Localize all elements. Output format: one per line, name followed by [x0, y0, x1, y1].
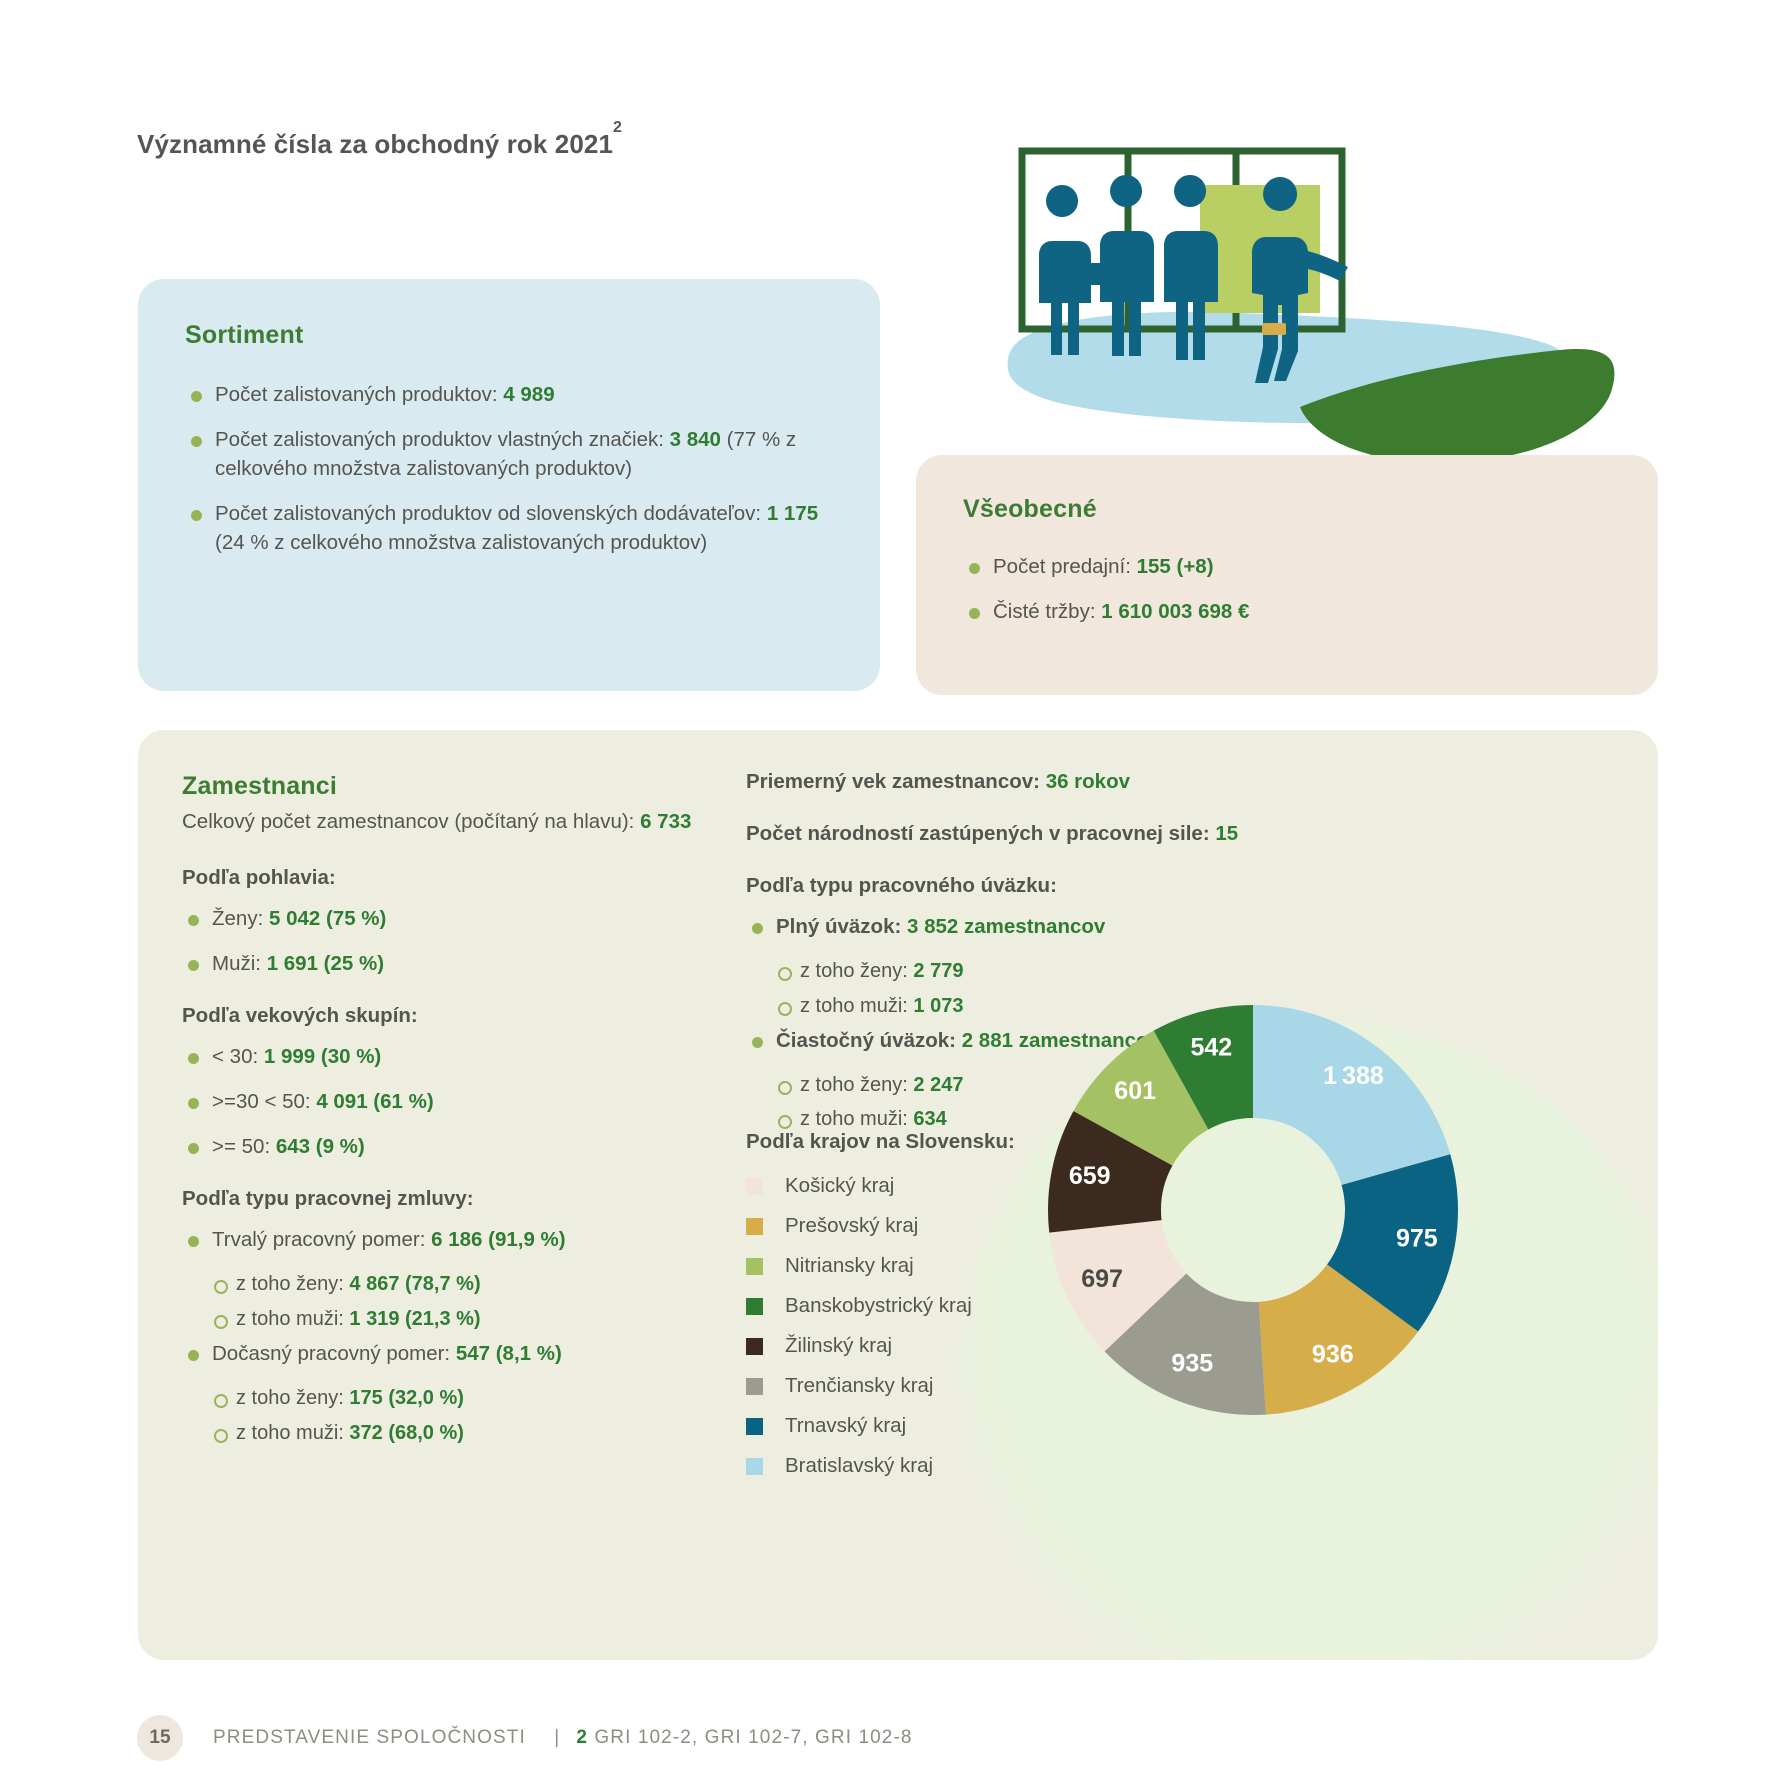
item-value: 1 691 (25 %) [267, 952, 384, 975]
list-item: Plný úväzok: 3 852 zamestnancov [746, 912, 1306, 941]
legend-label: Trnavský kraj [785, 1414, 906, 1438]
legend-item: Trenčiansky kraj [746, 1374, 1026, 1398]
section-heading-worktime: Podľa typu pracovného úväzku: [746, 874, 1306, 898]
legend-label: Žilinský kraj [785, 1334, 892, 1358]
average-age-value: 36 rokov [1046, 770, 1130, 793]
vseobecne-list: Počet predajní: 155 (+8) Čisté tržby: 1 … [963, 552, 1613, 626]
zamestnanci-total: Celkový počet zamestnancov (počítaný na … [182, 807, 752, 838]
page-title-text: Významné čísla za obchodný rok 2021 [137, 129, 613, 159]
list-item: Počet zalistovaných produktov od slovens… [185, 499, 845, 557]
list-item: < 30: 1 999 (30 %) [182, 1042, 752, 1071]
item-value: 372 (68,0 %) [349, 1422, 464, 1444]
zamestnanci-left-column: Zamestnanci Celkový počet zamestnancov (… [182, 772, 752, 1453]
item-label: < 30: [212, 1045, 264, 1068]
legend-swatch-icon [746, 1258, 763, 1275]
legend-item: Nitriansky kraj [746, 1254, 1026, 1278]
item-label: >= 50: [212, 1135, 276, 1158]
page-number-badge: 15 [137, 1715, 183, 1761]
age-list: < 30: 1 999 (30 %) >=30 < 50: 4 091 (61 … [182, 1042, 752, 1161]
item-value: 1 073 [913, 995, 963, 1017]
nationalities-value: 15 [1215, 822, 1238, 845]
legend-swatch-icon [746, 1458, 763, 1475]
item-label: z toho muži: [800, 1108, 913, 1130]
item-value: 1 610 003 698 € [1101, 600, 1249, 623]
legend-item: Žilinský kraj [746, 1334, 1026, 1358]
card-zamestnanci: Zamestnanci Celkový počet zamestnancov (… [138, 730, 1658, 1660]
vseobecne-heading: Všeobecné [963, 495, 1613, 524]
legend-label: Bratislavský kraj [785, 1454, 933, 1478]
card-vseobecne: Všeobecné Počet predajní: 155 (+8) Čisté… [916, 455, 1658, 695]
footer-section-label: PREDSTAVENIE SPOLOČNOSTI |2 GRI 102-2, G… [213, 1727, 913, 1749]
list-item: Ženy: 5 042 (75 %) [182, 904, 752, 933]
item-label: Trvalý pracovný pomer: [212, 1228, 431, 1251]
legend-label: Košický kraj [785, 1174, 894, 1198]
item-value: 3 840 [670, 428, 721, 451]
sortiment-list: Počet zalistovaných produktov: 4 989 Poč… [185, 380, 845, 558]
item-label: >=30 < 50: [212, 1090, 316, 1113]
page-footer: 15 PREDSTAVENIE SPOLOČNOSTI |2 GRI 102-2… [137, 1715, 913, 1761]
footer-ref-number: 2 [576, 1727, 588, 1748]
item-value: 643 (9 %) [276, 1135, 365, 1158]
item-label: Muži: [212, 952, 267, 975]
list-item: Čisté tržby: 1 610 003 698 € [963, 597, 1613, 626]
item-value: 4 091 (61 %) [316, 1090, 433, 1113]
item-label: z toho muži: [800, 995, 913, 1017]
item-value: 4 989 [503, 383, 554, 406]
item-label: z toho ženy: [800, 1074, 913, 1096]
item-value: 5 042 (75 %) [269, 907, 386, 930]
gender-list: Ženy: 5 042 (75 %) Muži: 1 691 (25 %) [182, 904, 752, 978]
item-value: 6 186 (91,9 %) [431, 1228, 565, 1251]
list-item: Počet zalistovaných produktov: 4 989 [185, 380, 845, 409]
zamestnanci-heading: Zamestnanci [182, 772, 752, 801]
average-age-label: Priemerný vek zamestnancov: [746, 770, 1046, 793]
item-value: 4 867 (78,7 %) [349, 1273, 480, 1295]
item-tail: (24 % z celkového množstva zalistovaných… [215, 531, 707, 554]
legend-swatch-icon [746, 1298, 763, 1315]
item-label: z toho muži: [236, 1308, 349, 1330]
donut-svg: 1 388975936935697659601542 [1018, 975, 1488, 1445]
legend-item: Bratislavský kraj [746, 1454, 1026, 1478]
legend-swatch-icon [746, 1378, 763, 1395]
item-value: 3 852 zamestnancov [907, 915, 1105, 938]
item-value: 634 [913, 1108, 946, 1130]
item-label: z toho ženy: [236, 1273, 349, 1295]
legend-item: Trnavský kraj [746, 1414, 1026, 1438]
nationalities-count: Počet národností zastúpených v pracovnej… [746, 822, 1306, 846]
item-value: 1 175 [767, 502, 818, 525]
item-label: z toho ženy: [800, 960, 913, 982]
list-item: Počet predajní: 155 (+8) [963, 552, 1613, 581]
section-heading-contract: Podľa typu pracovnej zmluvy: [182, 1187, 752, 1211]
item-label: Plný úväzok: [776, 915, 907, 938]
item-value: 2 247 [913, 1074, 963, 1096]
list-item: Trvalý pracovný pomer: 6 186 (91,9 %) [182, 1225, 752, 1254]
list-item-sub: z toho ženy: 175 (32,0 %) [182, 1384, 752, 1412]
donut-chart-regions: 1 388975936935697659601542 [1018, 975, 1488, 1445]
footer-ref-text: GRI 102-2, GRI 102-7, GRI 102-8 [594, 1727, 912, 1748]
item-label: z toho muži: [236, 1422, 349, 1444]
nationalities-label: Počet národností zastúpených v pracovnej… [746, 822, 1215, 845]
legend-swatch-icon [746, 1218, 763, 1235]
list-item: Dočasný pracovný pomer: 547 (8,1 %) [182, 1339, 752, 1368]
legend-label: Banskobystrický kraj [785, 1294, 972, 1318]
legend-item: Prešovský kraj [746, 1214, 1026, 1238]
item-label: Dočasný pracovný pomer: [212, 1342, 456, 1365]
donut-slice-label: 659 [1069, 1162, 1111, 1190]
item-value: 2 779 [913, 960, 963, 982]
section-heading-age: Podľa vekových skupín: [182, 1004, 752, 1028]
page-title-footnote-ref: 2 [613, 119, 622, 136]
card-sortiment: Sortiment Počet zalistovaných produktov:… [138, 279, 880, 691]
item-label: Počet predajní: [993, 555, 1137, 578]
chart-title: Podľa krajov na Slovensku: [746, 1130, 1026, 1154]
item-label: Počet zalistovaných produktov vlastných … [215, 428, 670, 451]
legend-swatch-icon [746, 1418, 763, 1435]
item-value: 155 (+8) [1137, 555, 1214, 578]
item-label: Počet zalistovaných produktov: [215, 383, 503, 406]
total-value: 6 733 [640, 810, 691, 833]
item-label: Čiastočný úväzok: [776, 1029, 962, 1052]
list-item: >= 50: 643 (9 %) [182, 1132, 752, 1161]
footer-separator: | [554, 1727, 560, 1748]
legend-swatch-icon [746, 1338, 763, 1355]
item-label: Ženy: [212, 907, 269, 930]
item-label: Počet zalistovaných produktov od slovens… [215, 502, 767, 525]
sortiment-heading: Sortiment [185, 321, 845, 350]
item-value: 1 999 (30 %) [264, 1045, 381, 1068]
legend-item: Banskobystrický kraj [746, 1294, 1026, 1318]
donut-slice-label: 601 [1114, 1077, 1156, 1105]
list-item: Počet zalistovaných produktov vlastných … [185, 425, 845, 483]
list-item: >=30 < 50: 4 091 (61 %) [182, 1087, 752, 1116]
item-value: 175 (32,0 %) [349, 1387, 464, 1409]
section-heading-gender: Podľa pohlavia: [182, 866, 752, 890]
donut-slice-label: 542 [1190, 1033, 1232, 1061]
average-age: Priemerný vek zamestnancov: 36 rokov [746, 770, 1306, 794]
total-label: Celkový počet zamestnancov (počítaný na … [182, 810, 640, 833]
legend-swatch-icon [746, 1178, 763, 1195]
chart-legend: Podľa krajov na Slovensku: Košický krajP… [746, 1130, 1026, 1494]
footer-section-name: PREDSTAVENIE SPOLOČNOSTI [213, 1727, 526, 1748]
donut-slice-label: 1 388 [1323, 1062, 1384, 1090]
donut-slice-label: 936 [1312, 1341, 1354, 1369]
item-value: 1 319 (21,3 %) [349, 1308, 480, 1330]
item-value: 547 (8,1 %) [456, 1342, 562, 1365]
illustration-people-presentation [1000, 145, 1620, 475]
legend-item: Košický kraj [746, 1174, 1026, 1198]
list-item-sub: z toho muži: 1 319 (21,3 %) [182, 1305, 752, 1333]
item-label: z toho ženy: [236, 1387, 349, 1409]
report-page: Významné čísla za obchodný rok 20212 [0, 0, 1785, 1785]
legend-label: Prešovský kraj [785, 1214, 918, 1238]
donut-slice-label: 935 [1171, 1350, 1213, 1378]
donut-slice [1253, 1005, 1450, 1185]
legend-label: Nitriansky kraj [785, 1254, 914, 1278]
page-title: Významné čísla za obchodný rok 20212 [137, 129, 622, 160]
legend-label: Trenčiansky kraj [785, 1374, 933, 1398]
list-item-sub: z toho ženy: 4 867 (78,7 %) [182, 1270, 752, 1298]
donut-slice-label: 975 [1396, 1224, 1438, 1252]
list-item-sub: z toho muži: 372 (68,0 %) [182, 1419, 752, 1447]
list-item: Muži: 1 691 (25 %) [182, 949, 752, 978]
donut-slice-label: 697 [1081, 1265, 1123, 1293]
item-label: Čisté tržby: [993, 600, 1101, 623]
contract-list: Trvalý pracovný pomer: 6 186 (91,9 %) z … [182, 1225, 752, 1447]
